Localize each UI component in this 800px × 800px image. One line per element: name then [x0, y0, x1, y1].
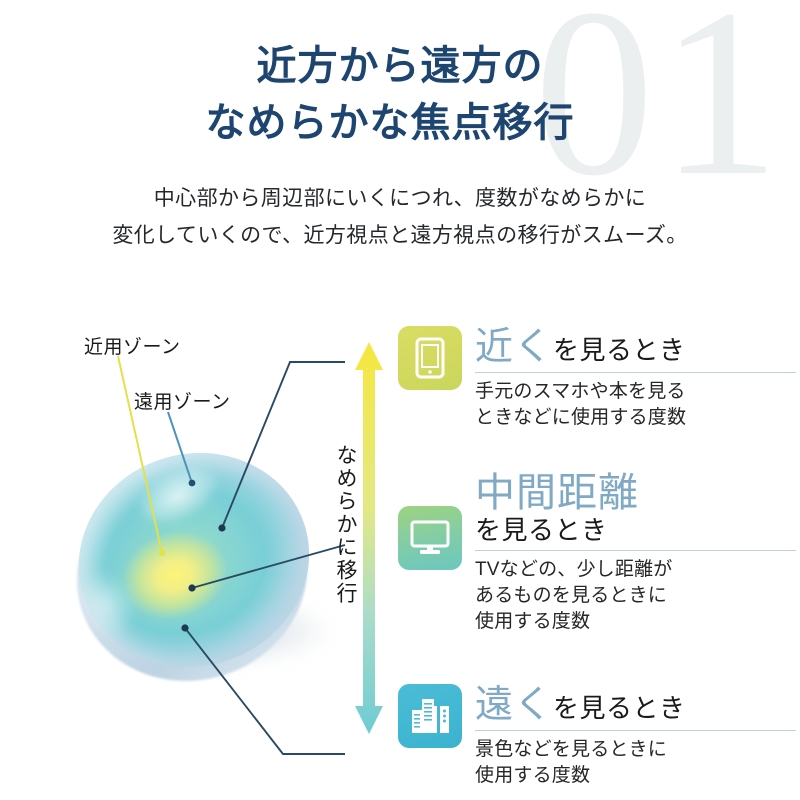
infographic-page: 01 近方から遠方の なめらかな焦点移行 中心部から周辺部にいくにつれ、度数がな… [0, 0, 800, 800]
near-zone-label: 近用ゾーン [84, 332, 181, 359]
distance-card-intermediate-description-line-2: あるものを見るときに [475, 583, 796, 609]
distance-card-far-description: 景色などを見るときに 使用する度数 [475, 737, 796, 789]
distance-card-intermediate-keyword-suffix: を見るとき [475, 515, 796, 546]
distance-card-far-divider [475, 730, 796, 731]
distance-card-near-description: 手元のスマホや本を見る ときなどに使用する度数 [475, 379, 796, 431]
transition-arrow-label: なめらかに移行 [332, 444, 358, 605]
distance-card-far-description-line-1: 景色などを見るときに [475, 737, 796, 763]
buildings-icon [398, 684, 462, 748]
distance-card-intermediate-divider [475, 550, 796, 551]
distance-card-near-description-line-2: ときなどに使用する度数 [475, 405, 796, 431]
transition-arrow-group: なめらかに移行 [330, 338, 400, 738]
distance-card-near-divider [475, 372, 796, 373]
distance-card-intermediate-body: 中間距離を見るとき TVなどの、少し距離が あるものを見るときに 使用する度数 [475, 472, 796, 635]
distance-card-intermediate-keyword: 中間距離 [475, 473, 796, 514]
monitor-icon [398, 506, 462, 570]
distance-card-intermediate: 中間距離を見るとき TVなどの、少し距離が あるものを見るときに 使用する度数 [398, 472, 796, 635]
distance-card-far: 遠くを見るとき 景色などを見るときに 使用する度数 [398, 684, 796, 789]
page-title: 近方から遠方の なめらかな焦点移行 [0, 38, 800, 152]
page-description-line-2: 変化していくので、近方視点と遠方視点の移行がスムーズ。 [0, 217, 800, 254]
distance-card-intermediate-description-line-1: TVなどの、少し距離が [475, 557, 796, 583]
distance-card-far-keyword: 遠く [475, 684, 553, 726]
page-title-line-1: 近方から遠方の [257, 44, 544, 88]
distance-card-near: 近くを見るとき 手元のスマホや本を見る ときなどに使用する度数 [398, 326, 796, 431]
distance-card-intermediate-description-line-3: 使用する度数 [475, 609, 796, 635]
distance-card-far-keyword-suffix: を見るとき [553, 693, 686, 723]
distance-card-near-heading: 近くを見るとき [475, 327, 796, 367]
page-description: 中心部から周辺部にいくにつれ、度数がなめらかに 変化していくので、近方視点と遠方… [0, 180, 800, 255]
distance-card-near-description-line-1: 手元のスマホや本を見る [475, 379, 796, 405]
distance-card-far-heading: 遠くを見るとき [475, 685, 796, 725]
distance-card-far-body: 遠くを見るとき 景色などを見るときに 使用する度数 [475, 684, 796, 789]
distance-card-far-description-line-2: 使用する度数 [475, 763, 796, 789]
smartphone-icon [398, 326, 462, 390]
far-zone-label: 遠用ゾーン [134, 387, 231, 414]
distance-card-near-keyword-suffix: を見るとき [553, 335, 686, 365]
distance-card-near-body: 近くを見るとき 手元のスマホや本を見る ときなどに使用する度数 [475, 326, 796, 431]
lens-illustration [58, 420, 368, 720]
distance-card-intermediate-heading: 中間距離を見るとき [475, 473, 796, 545]
distance-card-near-keyword: 近く [475, 326, 553, 368]
distance-card-intermediate-description: TVなどの、少し距離が あるものを見るときに 使用する度数 [475, 557, 796, 634]
page-description-line-1: 中心部から周辺部にいくにつれ、度数がなめらかに [0, 180, 800, 217]
page-title-line-2: なめらかな焦点移行 [0, 95, 800, 152]
